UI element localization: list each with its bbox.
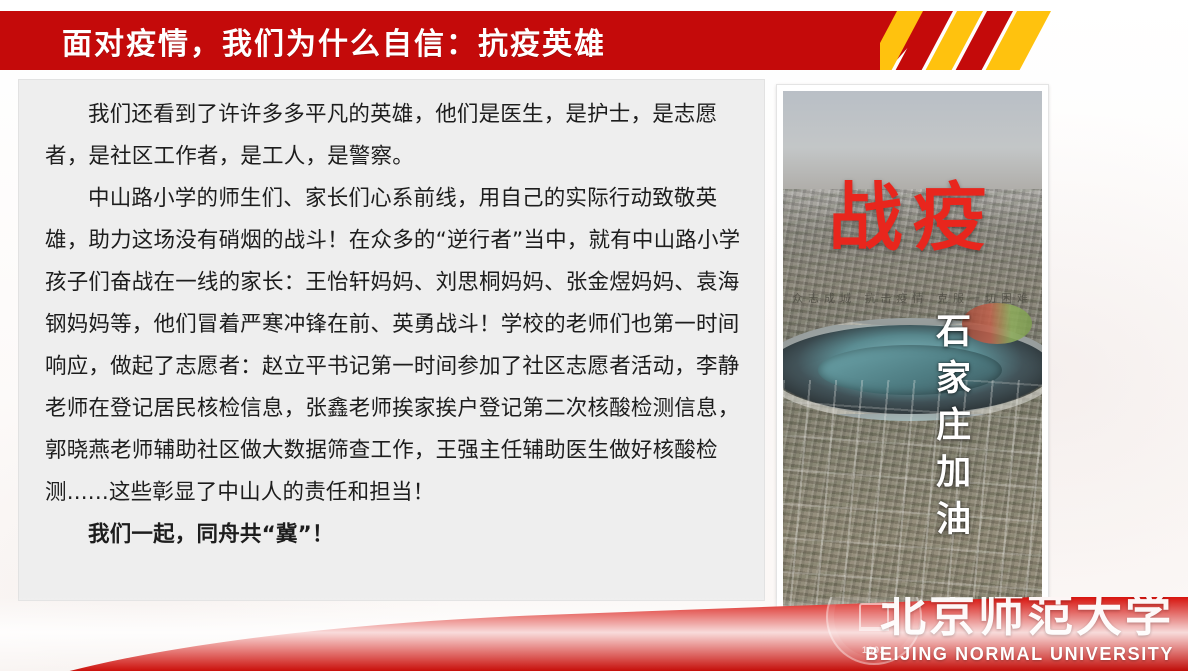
header-banner: 面对疫情，我们为什么自信：抗疫英雄 [0, 11, 1188, 70]
photo-headline: 战疫 [783, 158, 1042, 265]
aerial-city-photo: 战疫 众志成城 抗击疫情 克服一切困难 石 家 庄 加 油 [783, 91, 1042, 607]
paragraph-2: 中山路小学的师生们、家长们心系前线，用自己的实际行动致敬英雄，助力这场没有硝烟的… [45, 178, 745, 514]
university-name-cn: 北京师范大学 [880, 597, 1174, 645]
header-stripe-group [880, 11, 1188, 70]
vertical-char-4: 加 [933, 449, 975, 496]
vertical-char-1: 石 [933, 308, 975, 355]
vertical-char-5: 油 [933, 496, 975, 543]
photo-card: 战疫 众志成城 抗击疫情 克服一切困难 石 家 庄 加 油 [776, 84, 1049, 614]
content-panel: 我们还看到了许许多多平凡的英雄，他们是医生，是护士，是志愿者，是社区工作者，是工… [18, 79, 765, 601]
vertical-char-3: 庄 [933, 402, 975, 449]
vertical-char-2: 家 [933, 355, 975, 402]
road-grid [783, 380, 1042, 607]
footer-branding: G NORMAL UNIV 1902 北京师范大学 BEIJING NORMAL… [0, 597, 1188, 671]
page-title: 面对疫情，我们为什么自信：抗疫英雄 [62, 11, 606, 70]
university-name-en: BEIJING NORMAL UNIVERSITY [865, 644, 1174, 665]
body-text: 我们还看到了许许多多平凡的英雄，他们是医生，是护士，是志愿者，是社区工作者，是工… [45, 94, 745, 556]
photo-slogan: 众志成城 抗击疫情 克服一切困难 [783, 290, 1042, 306]
paragraph-1: 我们还看到了许许多多平凡的英雄，他们是医生，是护士，是志愿者，是社区工作者，是工… [45, 94, 745, 178]
paragraph-3-closing: 我们一起，同舟共“冀”！ [45, 514, 745, 556]
vertical-calligraphy: 石 家 庄 加 油 [933, 308, 975, 543]
